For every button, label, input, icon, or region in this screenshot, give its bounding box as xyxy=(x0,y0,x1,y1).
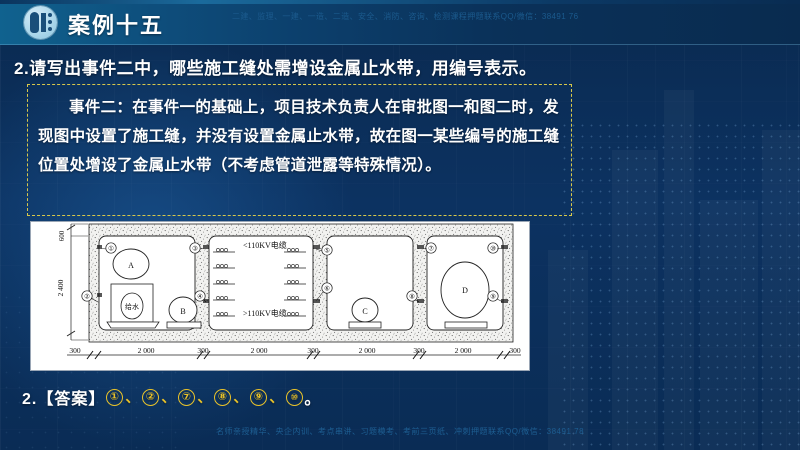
building-lights xyxy=(560,120,800,450)
svg-text:①: ① xyxy=(108,245,114,253)
answer-line: 2.【答案】 ① 、 ② 、 ⑦ 、 ⑧ 、 ⑨ 、 ⑩ 。 xyxy=(22,385,321,409)
question-text: 2.请写出事件二中，哪些施工缝处需增设金属止水带，用编号表示。 xyxy=(14,54,614,79)
answer-separator: 、 xyxy=(269,387,284,407)
svg-text:300: 300 xyxy=(509,346,521,355)
answer-prefix: 2.【答案】 xyxy=(22,385,105,409)
svg-text:③: ③ xyxy=(192,245,198,253)
logo-dot xyxy=(48,27,52,31)
answer-number: ② xyxy=(142,389,159,406)
svg-text:④: ④ xyxy=(197,293,203,301)
svg-text:⑩: ⑩ xyxy=(490,245,496,253)
logo-dot xyxy=(48,20,52,24)
svg-text:2 000: 2 000 xyxy=(455,346,472,355)
svg-text:B: B xyxy=(180,307,185,316)
event-paragraph: 事件二：在事件一的基础上，项目技术负责人在审批图一和图二时，发现图中设置了施工缝… xyxy=(38,93,561,180)
svg-text:⑦: ⑦ xyxy=(428,245,434,253)
svg-text:C: C xyxy=(362,307,367,316)
utility-tunnel-section-diagram: A 给水 B <110KV电缆 >110KV电缆 C D xyxy=(30,221,530,371)
logo-bar xyxy=(41,13,46,32)
answer-number: ⑧ xyxy=(214,389,231,406)
helmet-badge-icon xyxy=(24,6,57,39)
answer-separator: 、 xyxy=(125,387,140,407)
svg-text:②: ② xyxy=(84,293,90,301)
page-title: 案例十五 xyxy=(68,8,164,40)
svg-text:600: 600 xyxy=(58,230,66,241)
header-promo-text: 二建、监理、一建、一造、二造、安全、消防、咨询、检测课程押题联系QQ/微信：38… xyxy=(232,11,632,22)
answer-separator: 、 xyxy=(197,387,212,407)
svg-text:⑧: ⑧ xyxy=(409,293,415,301)
svg-text:A: A xyxy=(128,261,134,270)
svg-text:2 000: 2 000 xyxy=(251,346,268,355)
svg-text:300: 300 xyxy=(197,346,209,355)
svg-text:2 400: 2 400 xyxy=(56,279,65,296)
event-description-box: 事件二：在事件一的基础上，项目技术负责人在审批图一和图二时，发现图中设置了施工缝… xyxy=(27,84,572,216)
svg-text:>110KV电缆: >110KV电缆 xyxy=(243,308,287,318)
answer-separator: 、 xyxy=(161,387,176,407)
svg-text:2 000: 2 000 xyxy=(359,346,376,355)
svg-text:给水: 给水 xyxy=(125,302,139,311)
slide-header: 案例十五 二建、监理、一建、一造、二造、安全、消防、咨询、检测课程押题联系QQ/… xyxy=(0,0,800,45)
answer-number: ⑨ xyxy=(250,389,267,406)
svg-text:⑤: ⑤ xyxy=(324,247,330,255)
answer-separator: 、 xyxy=(233,387,248,407)
header-top-accent xyxy=(0,0,800,4)
svg-text:⑨: ⑨ xyxy=(490,293,496,301)
answer-period: 。 xyxy=(304,385,321,409)
answer-number: ① xyxy=(106,389,123,406)
svg-text:300: 300 xyxy=(413,346,425,355)
logo-dot xyxy=(48,13,52,17)
footer-promo-text: 名师亲授精华、央企内训、考点串讲、习题模考、考前三页纸、冲刺押题联系QQ/微信：… xyxy=(0,426,800,442)
svg-text:2 000: 2 000 xyxy=(138,346,155,355)
svg-text:<110KV电缆: <110KV电缆 xyxy=(243,240,287,250)
helmet-shape xyxy=(30,12,39,33)
answer-number: ⑩ xyxy=(286,389,303,406)
svg-text:300: 300 xyxy=(307,346,319,355)
svg-text:⑥: ⑥ xyxy=(324,285,330,293)
svg-text:300: 300 xyxy=(69,346,81,355)
svg-text:D: D xyxy=(462,286,468,295)
answer-number: ⑦ xyxy=(178,389,195,406)
